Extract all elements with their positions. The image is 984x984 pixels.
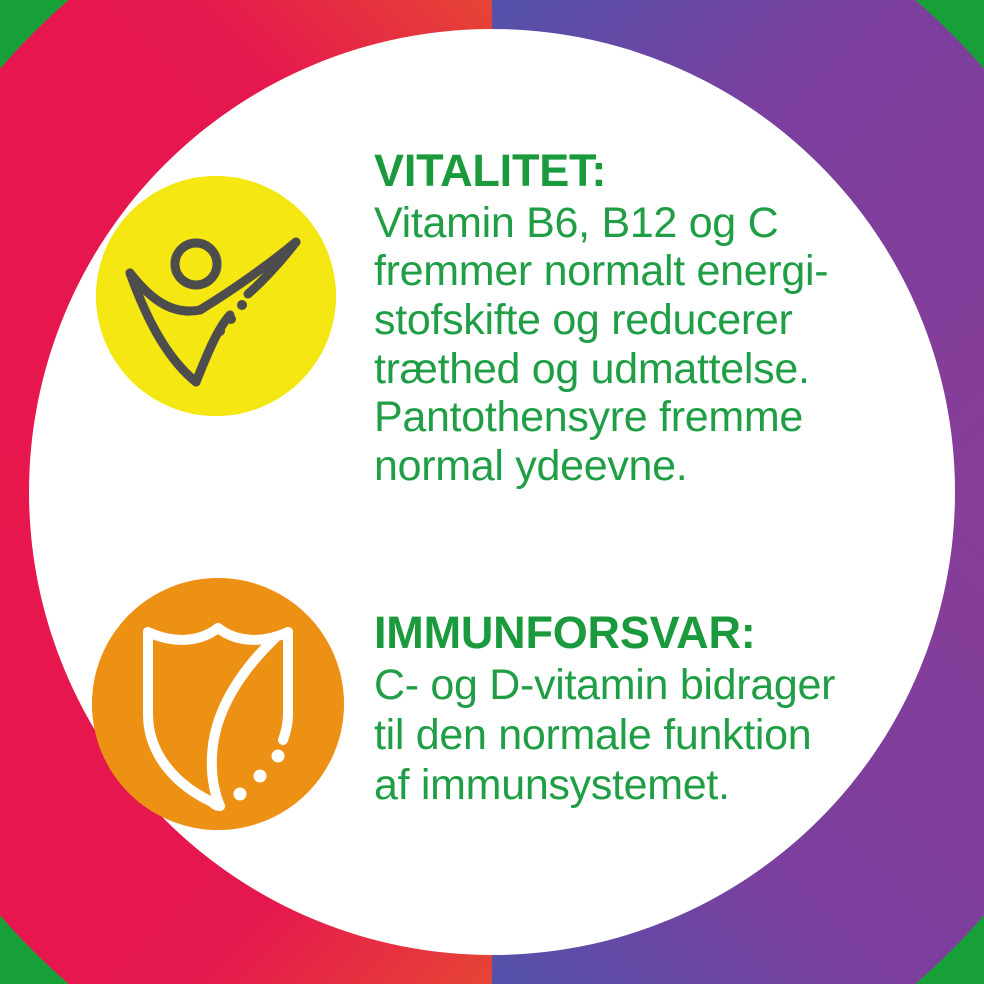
vitality-heading: VITALITET: xyxy=(374,148,828,195)
shield-immune-icon xyxy=(92,578,344,830)
benefit-block-vitality: VITALITET: Vitamin B6, B12 og C fremmer … xyxy=(96,148,828,490)
immune-heading: IMMUNFORSVAR: xyxy=(374,610,835,657)
immune-body: C- og D-vitamin bidrager til den normale… xyxy=(374,661,835,811)
vitality-person-icon xyxy=(96,176,336,416)
vitality-body: Vitamin B6, B12 og C fremmer normalt ene… xyxy=(374,199,828,490)
content-area: VITALITET: Vitamin B6, B12 og C fremmer … xyxy=(0,0,984,984)
vitality-text-column: VITALITET: Vitamin B6, B12 og C fremmer … xyxy=(374,148,828,490)
immune-text-column: IMMUNFORSVAR: C- og D-vitamin bidrager t… xyxy=(374,610,835,810)
promo-card: VITALITET: Vitamin B6, B12 og C fremmer … xyxy=(0,0,984,984)
benefit-block-immune: IMMUNFORSVAR: C- og D-vitamin bidrager t… xyxy=(92,578,835,830)
